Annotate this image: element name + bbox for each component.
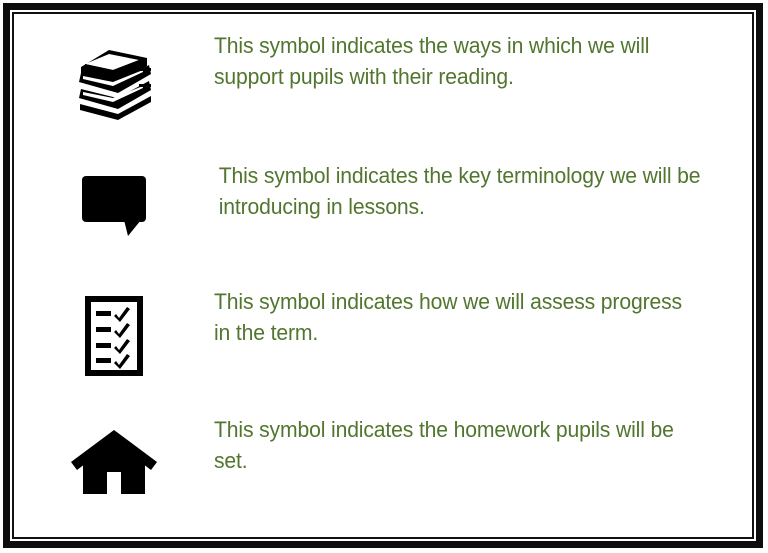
speech-bubble-icon <box>81 176 147 236</box>
house-icon <box>71 428 157 494</box>
icon-cell <box>14 286 214 376</box>
list-item: This symbol indicates the key terminolog… <box>14 160 752 280</box>
list-item-caption: This symbol indicates the ways in which … <box>214 30 703 92</box>
stacked-books-icon <box>73 46 155 124</box>
text-cell: This symbol indicates the ways in which … <box>214 30 752 92</box>
icon-cell <box>14 160 214 236</box>
symbol-key-list: This symbol indicates the ways in which … <box>14 14 752 537</box>
list-item: This symbol indicates the ways in which … <box>14 30 752 150</box>
text-cell: This symbol indicates the key terminolog… <box>214 160 752 222</box>
list-item-caption: This symbol indicates the key terminolog… <box>214 160 703 222</box>
symbol-key-page: This symbol indicates the ways in which … <box>0 0 768 553</box>
list-item: This symbol indicates the homework pupil… <box>14 414 752 524</box>
list-item-caption: This symbol indicates how we will assess… <box>214 286 703 348</box>
checklist-clipboard-icon <box>85 296 143 376</box>
text-cell: This symbol indicates how we will assess… <box>214 286 752 348</box>
icon-cell <box>14 414 214 494</box>
list-item-caption: This symbol indicates the homework pupil… <box>214 414 703 476</box>
icon-cell <box>14 30 214 124</box>
list-item: This symbol indicates how we will assess… <box>14 286 752 406</box>
text-cell: This symbol indicates the homework pupil… <box>214 414 752 476</box>
